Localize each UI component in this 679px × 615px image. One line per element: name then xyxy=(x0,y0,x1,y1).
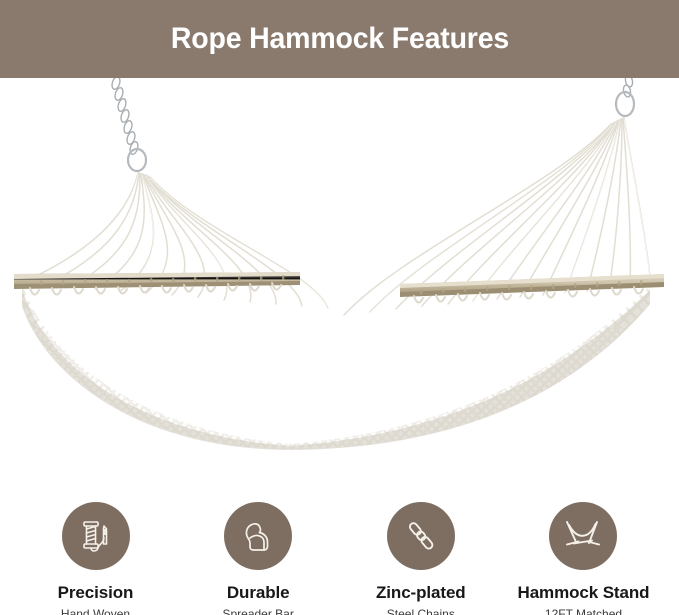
feature-title: Zinc-plated xyxy=(376,584,466,603)
feature-title: Durable xyxy=(227,584,290,603)
hero-product-photo xyxy=(0,78,679,480)
feature-item-hammock-stand: Hammock Stand 12FT Matched xyxy=(506,488,661,615)
header-banner: Rope Hammock Features xyxy=(0,0,679,78)
feature-subtitle: Steel Chains xyxy=(387,608,455,615)
infographic-page: Rope Hammock Features xyxy=(0,0,679,615)
feature-row: Precision Hand Woven Durable Spreader Ba… xyxy=(0,488,679,615)
feature-badge-precision xyxy=(62,502,130,570)
feature-badge-hammock-stand xyxy=(549,502,617,570)
feature-title: Precision xyxy=(58,584,134,603)
feature-subtitle: Spreader Bar xyxy=(222,608,293,615)
page-title: Rope Hammock Features xyxy=(170,24,508,54)
flexed-bicep-icon xyxy=(238,516,278,556)
feature-badge-zinc-plated xyxy=(387,502,455,570)
chain-link-icon xyxy=(401,516,441,556)
feature-subtitle: 12FT Matched xyxy=(545,608,622,615)
feature-item-zinc-plated: Zinc-plated Steel Chains xyxy=(343,488,498,615)
feature-subtitle: Hand Woven xyxy=(61,608,130,615)
rope-hammock-illustration xyxy=(0,78,679,480)
thread-spool-needle-icon xyxy=(76,516,116,556)
feature-item-durable: Durable Spreader Bar xyxy=(181,488,336,615)
feature-title: Hammock Stand xyxy=(518,584,650,603)
feature-badge-durable xyxy=(224,502,292,570)
hammock-stand-icon xyxy=(561,516,605,556)
feature-item-precision: Precision Hand Woven xyxy=(18,488,173,615)
